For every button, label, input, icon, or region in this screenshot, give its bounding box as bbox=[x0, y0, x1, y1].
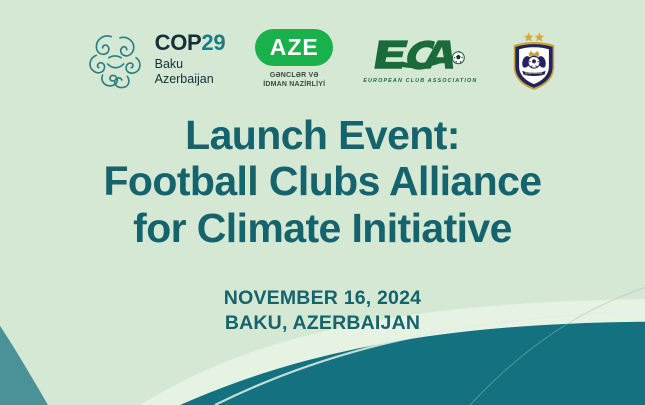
aze-wordmark: AZE bbox=[270, 34, 319, 61]
page-title: Launch Event: Football Clubs Alliance fo… bbox=[0, 112, 645, 251]
cop29-subtitle-line1: Baku bbox=[155, 57, 226, 72]
logo-aze-ministry: AZE GƏNCLƏR VƏ İDMAN NAZİRLİYİ bbox=[255, 29, 333, 90]
headline-line-3: for Climate Initiative bbox=[0, 205, 645, 251]
aze-caption-line1: GƏNCLƏR VƏ bbox=[263, 71, 325, 80]
cop29-title: COP bbox=[155, 32, 202, 54]
cop29-subtitle-line2: Azerbaijan bbox=[155, 72, 226, 87]
svg-text:QARABAĞ: QARABAĞ bbox=[526, 70, 544, 75]
event-location: BAKU, AZERBAIJAN bbox=[0, 311, 645, 336]
headline-line-2: Football Clubs Alliance bbox=[0, 158, 645, 204]
event-poster: COP29 Baku Azerbaijan AZE GƏNCLƏR VƏ İDM… bbox=[0, 0, 645, 405]
logo-strip: COP29 Baku Azerbaijan AZE GƏNCLƏR VƏ İDM… bbox=[0, 21, 645, 97]
aze-caption: GƏNCLƏR VƏ İDMAN NAZİRLİYİ bbox=[263, 71, 325, 90]
cop29-number: 29 bbox=[201, 32, 225, 54]
logo-eca: EUROPEAN CLUB ASSOCIATION bbox=[363, 34, 477, 84]
aze-pill-icon: AZE bbox=[255, 29, 333, 66]
cop29-wordmark: COP29 Baku Azerbaijan bbox=[155, 32, 226, 87]
eca-caption: EUROPEAN CLUB ASSOCIATION bbox=[363, 78, 477, 84]
logo-cop29: COP29 Baku Azerbaijan bbox=[84, 28, 226, 90]
headline-line-1: Launch Event: bbox=[0, 112, 645, 158]
qarabag-crest-icon: QARABAĞ bbox=[507, 26, 561, 92]
cop29-knot-icon bbox=[84, 28, 146, 90]
event-details: NOVEMBER 16, 2024 BAKU, AZERBAIJAN bbox=[0, 286, 645, 336]
eca-wordmark-icon bbox=[374, 34, 466, 76]
aze-caption-line2: İDMAN NAZİRLİYİ bbox=[263, 80, 325, 89]
event-date: NOVEMBER 16, 2024 bbox=[0, 286, 645, 311]
